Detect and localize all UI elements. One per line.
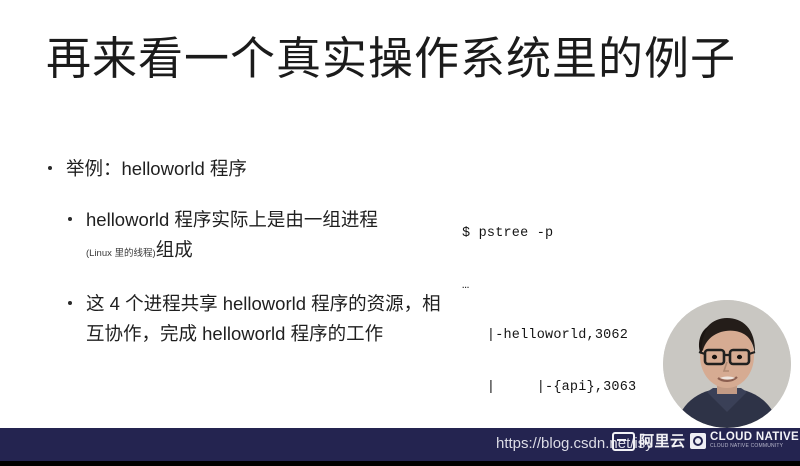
code-line-api: | |-{api},3063 [462,379,670,397]
presenter-webcam-circle [663,300,791,428]
bullet-text: 这 4 个进程共享 helloworld 程序的资源，相互协作，完成 hello… [86,293,441,344]
bullet-dot-icon [68,301,72,305]
cloudnative-subtitle: CLOUD NATIVE COMMUNITY [710,443,799,450]
terminal-output-pstree: $ pstree -p … |-helloworld,3062 | |-{api… [462,190,670,466]
bullet-text-main: helloworld 程序实际上是由一组进程 [86,209,378,230]
cloudnative-title: CLOUD NATIVE [710,432,799,443]
page-title: 再来看一个真实操作系统里的例子 [46,31,766,87]
bullet-item-processes: helloworld 程序实际上是由一组进程 (Linux 里的线程)组成 [64,205,444,269]
bullet-item-example: 举例：helloworld 程序 [44,155,444,183]
aliyun-mark-icon [612,432,635,451]
aliyun-logo: 阿里云 [612,432,686,451]
bullet-text-tail: 组成 [156,239,193,260]
bottom-edge-strip [0,461,800,466]
bullet-list: 举例：helloworld 程序 helloworld 程序实际上是由一组进程 … [44,155,444,369]
code-line-command: $ pstree -p [462,225,670,243]
cloudnative-mark-icon [690,433,706,449]
bullet-item-sharing: 这 4 个进程共享 helloworld 程序的资源，相互协作，完成 hello… [64,289,444,349]
bullet-annotation-linux-thread: (Linux 里的线程) [86,248,156,259]
slide-canvas: 再来看一个真实操作系统里的例子 举例：helloworld 程序 hellowo… [0,0,800,466]
cloudnative-logo: CLOUD NATIVE CLOUD NATIVE COMMUNITY [690,432,799,450]
presenter-avatar [663,300,791,428]
code-line-ellipsis: … [462,278,670,292]
aliyun-brand-label: 阿里云 [639,433,686,450]
bullet-text: 举例：helloworld 程序 [66,158,247,179]
bullet-dot-icon [48,166,52,170]
code-line-helloworld: |-helloworld,3062 [462,327,670,345]
bullet-dot-icon [68,217,72,221]
cloudnative-text-group: CLOUD NATIVE CLOUD NATIVE COMMUNITY [710,432,799,450]
